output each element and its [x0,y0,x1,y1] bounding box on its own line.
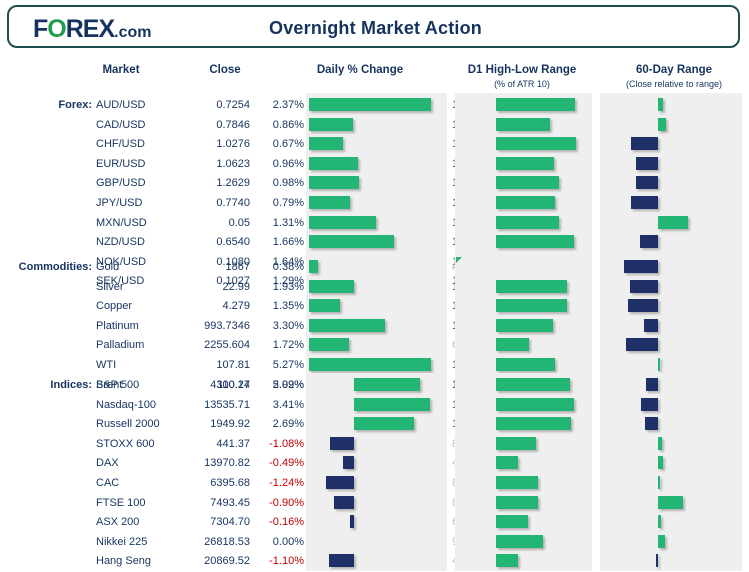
daily-change-value: 2.69% [258,418,304,430]
d1-range-bar [496,196,555,209]
daily-change-bar [334,496,354,509]
close-value: 0.7740 [170,197,250,209]
sixty-day-range-bar [640,235,659,248]
d1-range-bar [496,476,538,489]
sixty-day-range-bar [631,137,658,150]
group-label: Forex: [10,99,92,111]
daily-change-bar [309,260,318,273]
daily-change-value: 1.93% [258,281,304,293]
daily-change-value: -1.24% [258,477,304,489]
d1-range-bar [496,378,570,391]
sixty-day-range-bar [658,456,663,469]
daily-change-value: 1.35% [258,300,304,312]
daily-change-bar [309,235,394,248]
daily-change-bar [354,417,414,430]
d1-range-bar [496,437,536,450]
daily-change-bar [309,176,359,189]
daily-change-value: 0.86% [258,119,304,131]
na-flag-icon [456,257,462,263]
daily-change-bar [309,196,350,209]
daily-change-value: 1.31% [258,217,304,229]
close-value: 1.0276 [170,138,250,150]
close-value: 6395.68 [170,477,250,489]
daily-change-value: 2.99% [258,379,304,391]
close-value: 1867 [170,261,250,273]
d1-range-bar [496,235,574,248]
column-header-60day-range: 60-Day Range [600,64,748,76]
sixty-day-range-bar [658,118,666,131]
sixty-day-range-bar [631,196,659,209]
close-value: 107.81 [170,359,250,371]
column-subheader-atr: (% of ATR 10) [448,79,596,89]
close-value: 0.6540 [170,236,250,248]
daily-change-value: -1.10% [258,555,304,567]
sixty-day-range-bar [656,554,659,567]
daily-change-value: 0.96% [258,158,304,170]
close-value: 441.37 [170,438,250,450]
column-header-market: Market [86,64,156,76]
close-value: 1949.92 [170,418,250,430]
daily-change-value: 0.98% [258,177,304,189]
close-value: 4300.17 [170,379,250,391]
column-header-close: Close [190,64,260,76]
daily-change-value: -0.90% [258,497,304,509]
sixty-day-range-bar [658,216,688,229]
daily-change-value: 0.67% [258,138,304,150]
d1-range-bar [496,216,559,229]
d1-range-bar [496,319,553,332]
sixty-day-range-bar [658,98,663,111]
daily-change-bar [309,137,343,150]
daily-change-bar [350,515,354,528]
close-value: 1.0623 [170,158,250,170]
close-value: 13970.82 [170,457,250,469]
sixty-day-range-bar [628,299,658,312]
sixty-day-range-chart-panel [600,373,742,571]
column-header-d1-range: D1 High-Low Range [448,64,596,76]
d1-range-bar [496,299,567,312]
d1-range-bar [496,496,538,509]
close-value: 993.7346 [170,320,250,332]
daily-change-bar [309,98,431,111]
sixty-day-range-bar [636,157,659,170]
daily-change-bar [309,280,354,293]
d1-range-bar [496,157,554,170]
sixty-day-range-bar [658,496,682,509]
close-value: 0.7254 [170,99,250,111]
sixty-day-range-bar [645,417,659,430]
group-label: Indices: [10,379,92,391]
daily-change-value: 0.38% [258,261,304,273]
close-value: 0.05 [170,217,250,229]
d1-range-bar [496,456,518,469]
sixty-day-range-bar [626,338,658,351]
daily-change-bar [309,216,376,229]
daily-change-bar [343,456,354,469]
close-value: 7304.70 [170,516,250,528]
sixty-day-range-bar [658,358,660,371]
daily-change-value: 1.72% [258,339,304,351]
daily-change-bar [329,554,354,567]
daily-change-value: 1.66% [258,236,304,248]
header-banner: FOREX.com Overnight Market Action [7,5,740,48]
close-value: 13535.71 [170,399,250,411]
daily-change-value: 2.37% [258,99,304,111]
close-value: 0.7846 [170,119,250,131]
daily-change-bar [309,118,353,131]
sixty-day-range-bar [624,260,658,273]
d1-range-bar [496,118,550,131]
close-value: 22.99 [170,281,250,293]
sixty-day-range-bar [658,515,660,528]
daily-change-value: 5.27% [258,359,304,371]
d1-range-bar [496,417,571,430]
group-label: Commodities: [10,261,92,273]
d1-range-bar [496,137,576,150]
daily-change-bar [309,299,340,312]
daily-change-value: -0.16% [258,516,304,528]
close-value: 2255.604 [170,339,250,351]
daily-change-bar [354,378,421,391]
sixty-day-range-bar [658,437,661,450]
daily-change-bar [309,358,431,371]
close-value: 1.2629 [170,177,250,189]
daily-change-bar [309,157,358,170]
d1-range-bar [496,338,529,351]
daily-change-value: 3.30% [258,320,304,332]
daily-change-value: -1.08% [258,438,304,450]
close-value: 20869.52 [170,555,250,567]
close-value: 7493.45 [170,497,250,509]
page-title: Overnight Market Action [9,18,742,39]
sixty-day-range-bar [644,319,658,332]
daily-change-bar [309,338,349,351]
sixty-day-range-bar [630,280,658,293]
close-value: 4.279 [170,300,250,312]
report-page: FOREX.com Overnight Market Action Market… [0,0,749,546]
d1-range-bar [496,176,559,189]
column-subheader-close-rel: (Close relative to range) [600,79,748,89]
daily-change-bar [354,398,430,411]
d1-range-bar [496,358,555,371]
daily-change-bar [309,319,385,332]
daily-change-value: -0.49% [258,457,304,469]
daily-change-value: 3.41% [258,399,304,411]
d1-range-bar [496,398,574,411]
sixty-day-range-bar [641,398,659,411]
sixty-day-range-bar [636,176,659,189]
d1-range-bar [496,280,567,293]
d1-range-bar [496,554,518,567]
daily-change-bar [326,476,354,489]
d1-range-bar [496,98,575,111]
sixty-day-range-bar [646,378,658,391]
daily-change-bar [330,437,354,450]
sixty-day-range-bar [658,476,660,489]
column-header-daily-change: Daily % Change [280,64,440,76]
d1-range-bar [496,515,528,528]
daily-change-value: 0.79% [258,197,304,209]
